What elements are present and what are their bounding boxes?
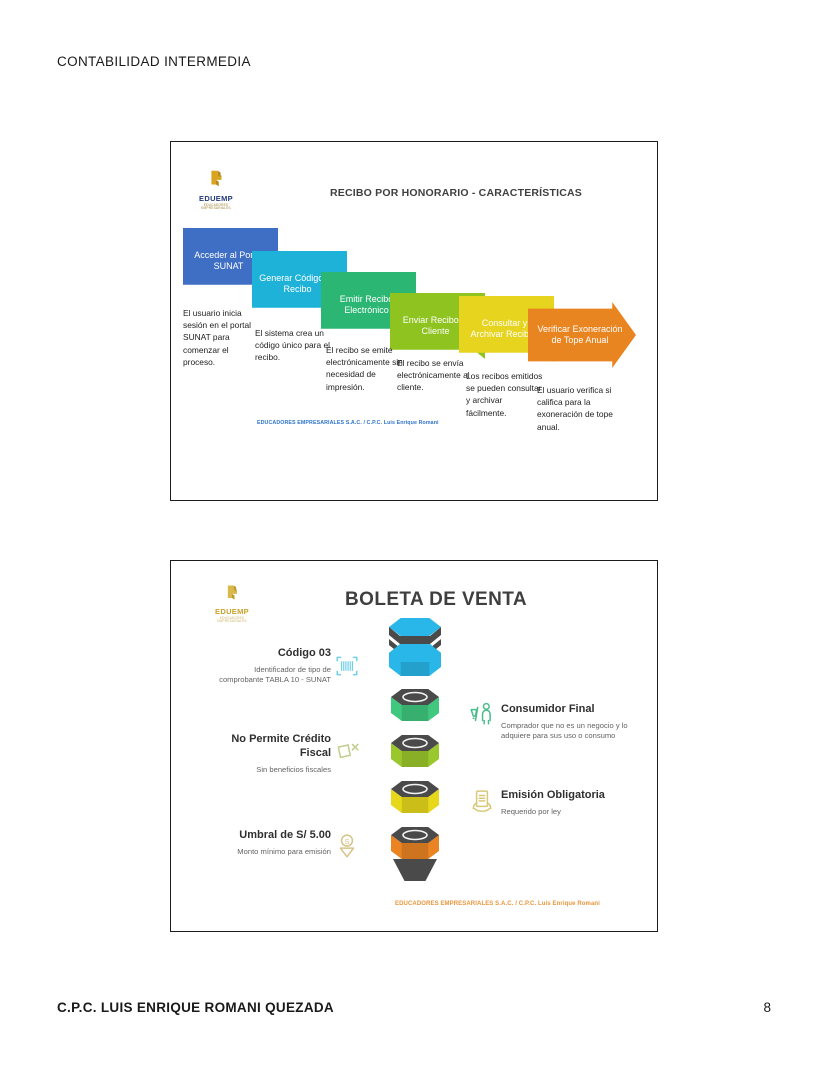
funnel-graphic	[374, 609, 456, 881]
feature-icon-wrap	[469, 701, 495, 732]
process-step-description-5: Los recibos emitidos se pueden consultar…	[466, 370, 544, 419]
page-number: 8	[763, 1000, 771, 1015]
feature-item: Emisión ObligatoriaRequerido por ley	[501, 789, 629, 817]
feature-description: Identificador de tipo de comprobante TAB…	[211, 665, 331, 686]
process-step-description-4: El recibo se envía electrónicamente al c…	[397, 357, 475, 394]
feature-item: Umbral de S/ 5.00Monto mínimo para emisi…	[211, 829, 331, 857]
eduemp-wordmark: EDUEMP	[209, 608, 255, 616]
feature-title: Código 03	[211, 647, 331, 661]
feature-description: Requerido por ley	[501, 807, 629, 818]
currency-drop-icon: S	[334, 833, 360, 859]
feature-icon-wrap: S	[334, 833, 360, 864]
page-header: CONTABILIDAD INTERMEDIA	[57, 54, 251, 69]
feature-icon-wrap	[334, 739, 360, 770]
slide-boleta-venta: EDUEMP EDUCADORES EMPRESARIALES BOLETA D…	[170, 560, 658, 932]
feature-description: Monto mínimo para emisión	[211, 847, 331, 858]
cart-person-icon	[469, 701, 495, 727]
feature-item: Consumidor FinalComprador que no es un n…	[501, 703, 629, 742]
feature-icon-wrap	[469, 789, 495, 820]
slide-credit-recibo: EDUCADORES EMPRESARIALES S.A.C. / C.P.C.…	[257, 420, 439, 426]
feature-title: No Permite Crédito Fiscal	[211, 733, 331, 761]
feature-title: Emisión Obligatoria	[501, 789, 629, 803]
card-crossed-icon	[334, 739, 360, 765]
document-hands-icon	[469, 789, 495, 815]
feature-item: No Permite Crédito FiscalSin beneficios …	[211, 733, 331, 775]
slide-title-boleta: BOLETA DE VENTA	[271, 589, 601, 611]
svg-text:S: S	[344, 837, 349, 846]
barcode-icon	[334, 653, 360, 679]
process-step-description-2: El sistema crea un código único para el …	[255, 327, 333, 364]
eduemp-mark-icon	[209, 583, 255, 607]
feature-description: Sin beneficios fiscales	[211, 765, 331, 776]
process-descriptions: El usuario inicia sesión en el portal SU…	[171, 142, 657, 500]
page-footer: C.P.C. LUIS ENRIQUE ROMANI QUEZADA	[57, 1000, 334, 1015]
feature-icon-wrap	[334, 653, 360, 684]
feature-item: Código 03Identificador de tipo de compro…	[211, 647, 331, 686]
process-step-description-6: El usuario verifica si califica para la …	[537, 384, 615, 433]
feature-title: Umbral de S/ 5.00	[211, 829, 331, 843]
feature-description: Comprador que no es un negocio y lo adqu…	[501, 721, 629, 742]
feature-title: Consumidor Final	[501, 703, 629, 717]
slide-credit-boleta: EDUCADORES EMPRESARIALES S.A.C. / C.P.C.…	[395, 901, 600, 907]
eduemp-subtitle: EDUCADORES EMPRESARIALES	[209, 617, 255, 623]
process-step-description-1: El usuario inicia sesión en el portal SU…	[183, 307, 261, 368]
eduemp-logo: EDUEMP EDUCADORES EMPRESARIALES	[209, 583, 255, 623]
slide-recibo-honorario: EDUEMP EDUCADORES EMPRESARIALES RECIBO P…	[170, 141, 658, 501]
process-step-description-3: El recibo se emite electrónicamente sin …	[326, 344, 404, 393]
